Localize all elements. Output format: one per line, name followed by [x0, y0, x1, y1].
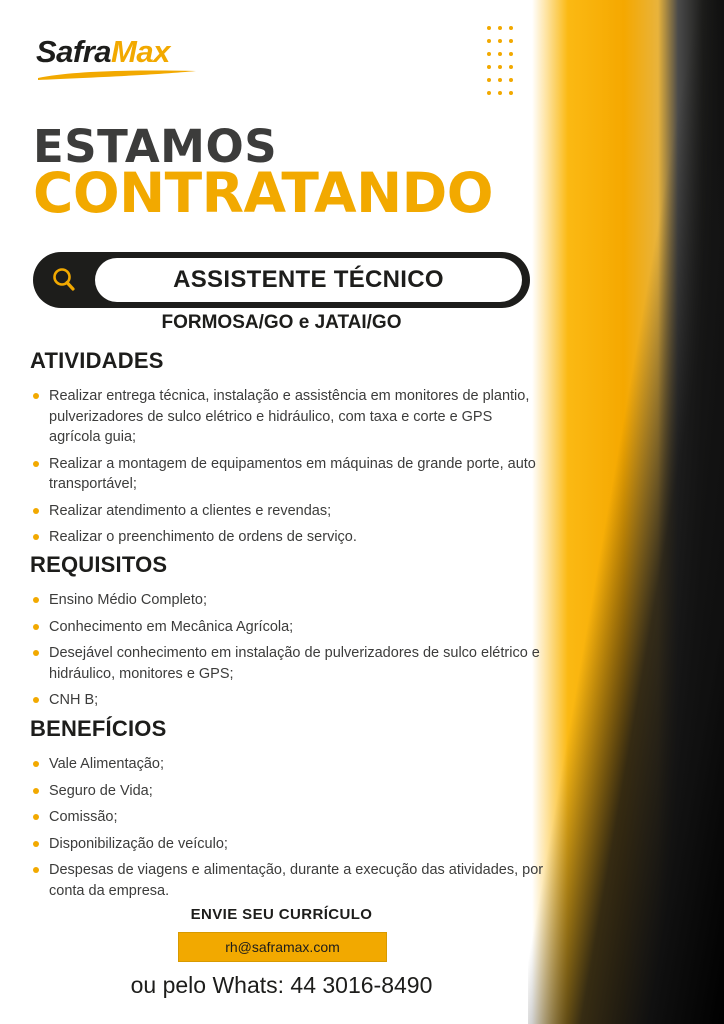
section-atividades: ATIVIDADES Realizar entrega técnica, ins…: [30, 348, 545, 554]
email-box[interactable]: rh@saframax.com: [178, 932, 387, 962]
list-item: Ensino Médio Completo;: [30, 590, 545, 611]
brand-logo: SafraMax: [36, 36, 266, 81]
list-item: Realizar atendimento a clientes e revend…: [30, 501, 545, 522]
list-item: Realizar o preenchimento de ordens de se…: [30, 527, 545, 548]
brand-name-part1: Safra: [36, 34, 111, 69]
section-title-requisitos: REQUISITOS: [30, 552, 545, 578]
list-item: Comissão;: [30, 807, 545, 828]
section-title-atividades: ATIVIDADES: [30, 348, 545, 374]
list-item: Realizar entrega técnica, instalação e a…: [30, 386, 545, 448]
dot-grid-decoration: [487, 26, 520, 104]
brand-swoosh-icon: [36, 69, 206, 81]
list-item: Seguro de Vida;: [30, 781, 545, 802]
brand-name-part2: Max: [111, 34, 170, 69]
email-address[interactable]: rh@saframax.com: [225, 939, 340, 955]
magnifier-icon: [33, 265, 95, 295]
cv-call-to-action: ENVIE SEU CURRÍCULO: [33, 906, 530, 923]
headline: ESTAMOS CONTRATANDO: [33, 126, 503, 219]
list-item: Despesas de viagens e alimentação, duran…: [30, 860, 545, 901]
list-requisitos: Ensino Médio Completo; Conhecimento em M…: [30, 590, 545, 711]
role-locations: FORMOSA/GO e JATAI/GO: [33, 312, 530, 334]
section-beneficios: BENEFÍCIOS Vale Alimentação; Seguro de V…: [30, 716, 545, 907]
list-item: Conhecimento em Mecânica Agrícola;: [30, 617, 545, 638]
list-item: Disponibilização de veículo;: [30, 834, 545, 855]
role-title: ASSISTENTE TÉCNICO: [173, 266, 444, 294]
list-item: Realizar a montagem de equipamentos em m…: [30, 454, 545, 495]
role-title-box: ASSISTENTE TÉCNICO: [95, 258, 522, 302]
list-atividades: Realizar entrega técnica, instalação e a…: [30, 386, 545, 548]
section-title-beneficios: BENEFÍCIOS: [30, 716, 545, 742]
section-requisitos: REQUISITOS Ensino Médio Completo; Conhec…: [30, 552, 545, 717]
whatsapp-line: ou pelo Whats: 44 3016-8490: [33, 972, 530, 999]
brand-logo-text: SafraMax: [36, 36, 266, 67]
list-item: Desejável conhecimento em instalação de …: [30, 643, 545, 684]
decorative-gradient-overlay: [528, 0, 724, 1024]
role-pill: ASSISTENTE TÉCNICO: [33, 252, 530, 308]
list-item: CNH B;: [30, 690, 545, 711]
list-beneficios: Vale Alimentação; Seguro de Vida; Comiss…: [30, 754, 545, 901]
headline-line2: CONTRATANDO: [33, 167, 503, 219]
job-poster: SafraMax ESTAMOS CONTRATANDO ASSISTENTE …: [0, 0, 724, 1024]
list-item: Vale Alimentação;: [30, 754, 545, 775]
